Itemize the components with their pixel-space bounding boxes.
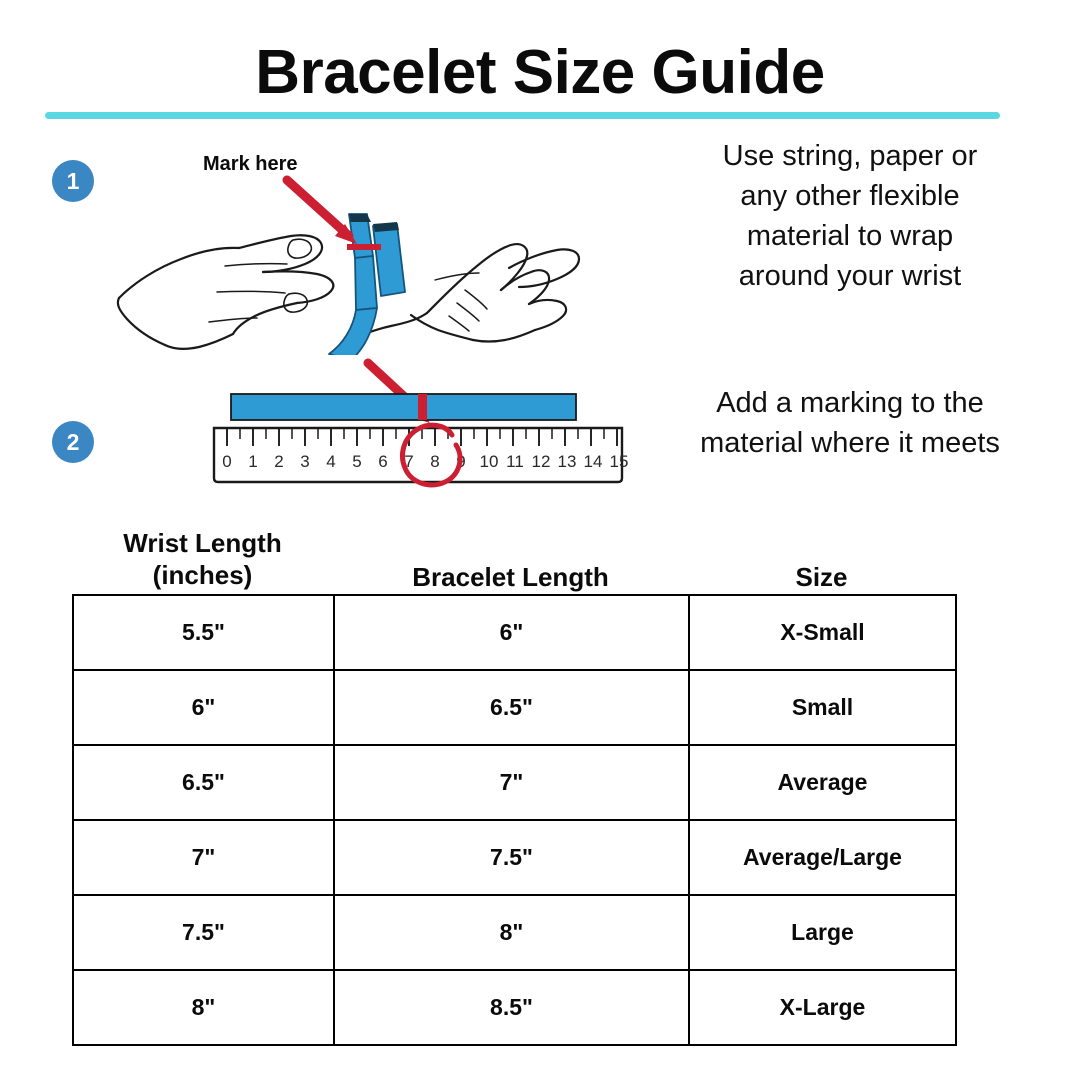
cell-wrist-length: 8" <box>73 970 334 1045</box>
cell-bracelet-length: 8.5" <box>334 970 689 1045</box>
table-row: 6" 6.5" Small <box>73 670 956 745</box>
cell-wrist-length: 7.5" <box>73 895 334 970</box>
svg-text:4: 4 <box>326 452 335 471</box>
column-header-bracelet-length: Bracelet Length <box>333 562 688 594</box>
cell-bracelet-length: 7" <box>334 745 689 820</box>
size-chart-table-body: 5.5" 6" X-Small 6" 6.5" Small 6.5" 7" Av… <box>73 595 956 1045</box>
instruction-text-step-1: Use string, paper or any other flexible … <box>700 136 1000 296</box>
table-row: 5.5" 6" X-Small <box>73 595 956 670</box>
title-underline-rule <box>45 112 1000 119</box>
instruction-text-step-2: Add a marking to the material where it m… <box>700 383 1000 463</box>
strip-red-mark <box>418 394 427 420</box>
column-header-size: Size <box>688 562 955 594</box>
step-badge-1: 1 <box>52 160 94 202</box>
cell-size: X-Large <box>689 970 956 1045</box>
cell-size: Average/Large <box>689 820 956 895</box>
red-mark-line <box>347 244 381 250</box>
svg-text:3: 3 <box>300 452 309 471</box>
svg-text:13: 13 <box>558 452 577 471</box>
cell-wrist-length: 5.5" <box>73 595 334 670</box>
table-row: 8" 8.5" X-Large <box>73 970 956 1045</box>
svg-text:2: 2 <box>274 452 283 471</box>
table-row: 7" 7.5" Average/Large <box>73 820 956 895</box>
cell-bracelet-length: 6" <box>334 595 689 670</box>
table-row: 6.5" 7" Average <box>73 745 956 820</box>
illustration-wrap-strip-around-wrist: Mark here <box>105 140 585 355</box>
ruler: 0 1 2 3 4 5 6 7 8 9 10 11 12 13 14 15 <box>214 428 628 482</box>
svg-text:1: 1 <box>248 452 257 471</box>
cell-bracelet-length: 7.5" <box>334 820 689 895</box>
page-title: Bracelet Size Guide <box>0 40 1080 105</box>
svg-text:5: 5 <box>352 452 361 471</box>
svg-text:10: 10 <box>480 452 499 471</box>
svg-text:11: 11 <box>506 452 524 471</box>
cell-size: Average <box>689 745 956 820</box>
cell-size: Large <box>689 895 956 970</box>
size-chart-table: 5.5" 6" X-Small 6" 6.5" Small 6.5" 7" Av… <box>72 594 957 1046</box>
column-header-wrist-length: Wrist Length (inches) <box>72 528 333 591</box>
illustration-measure-strip-on-ruler: 0 1 2 3 4 5 6 7 8 9 10 11 12 13 14 15 <box>190 355 650 495</box>
step-badge-2-number: 2 <box>67 431 80 454</box>
table-row: 7.5" 8" Large <box>73 895 956 970</box>
blue-measuring-strip <box>231 394 576 420</box>
cell-size: X-Small <box>689 595 956 670</box>
svg-text:0: 0 <box>222 452 231 471</box>
step-badge-2: 2 <box>52 421 94 463</box>
svg-text:6: 6 <box>378 452 387 471</box>
step-badge-1-number: 1 <box>67 170 80 193</box>
cell-size: Small <box>689 670 956 745</box>
svg-text:15: 15 <box>610 452 629 471</box>
cell-bracelet-length: 8" <box>334 895 689 970</box>
column-header-wrist-length-line1: Wrist Length <box>72 528 333 560</box>
cell-bracelet-length: 6.5" <box>334 670 689 745</box>
cell-wrist-length: 7" <box>73 820 334 895</box>
svg-text:8: 8 <box>430 452 439 471</box>
column-header-wrist-length-line2: (inches) <box>72 560 333 592</box>
svg-text:12: 12 <box>532 452 551 471</box>
cell-wrist-length: 6.5" <box>73 745 334 820</box>
mark-here-label: Mark here <box>203 153 298 175</box>
cell-wrist-length: 6" <box>73 670 334 745</box>
svg-text:14: 14 <box>584 452 603 471</box>
